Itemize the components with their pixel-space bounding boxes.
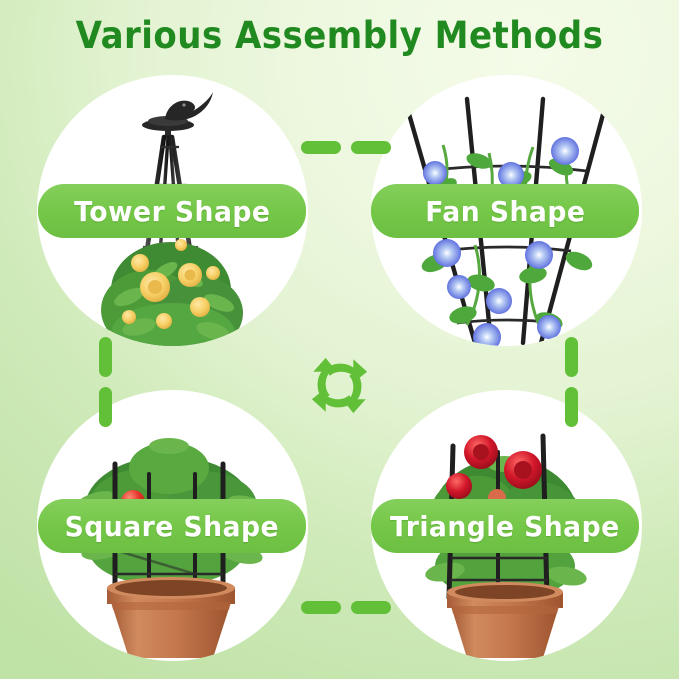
label-banner-tower-shape[interactable]: Tower Shape xyxy=(38,184,306,238)
label-square-shape: Square Shape xyxy=(65,510,279,543)
bird-finial-shape xyxy=(142,92,213,137)
connector-bottom-dash-2 xyxy=(351,601,391,614)
connector-bottom-dash-1 xyxy=(301,601,341,614)
page-title: Various Assembly Methods xyxy=(27,14,652,57)
infographic-canvas: Various Assembly Methods xyxy=(0,0,679,679)
connector-left-dash-2 xyxy=(99,387,112,427)
label-triangle-shape: Triangle Shape xyxy=(390,510,620,543)
connector-top-dash-1 xyxy=(301,141,341,154)
terracotta-pot xyxy=(107,577,235,658)
label-tower-shape: Tower Shape xyxy=(74,195,270,228)
terracotta-pot xyxy=(447,582,563,658)
connector-right-dash-1 xyxy=(565,337,578,377)
label-banner-triangle-shape[interactable]: Triangle Shape xyxy=(371,499,639,553)
recycle-arrows-icon xyxy=(305,351,374,420)
label-banner-fan-shape[interactable]: Fan Shape xyxy=(371,184,639,238)
label-banner-square-shape[interactable]: Square Shape xyxy=(38,499,306,553)
connector-top-dash-2 xyxy=(351,141,391,154)
connector-right-dash-2 xyxy=(565,387,578,427)
connector-left-dash-1 xyxy=(99,337,112,377)
foliage-yellow-roses xyxy=(101,239,243,346)
label-fan-shape: Fan Shape xyxy=(425,195,585,228)
